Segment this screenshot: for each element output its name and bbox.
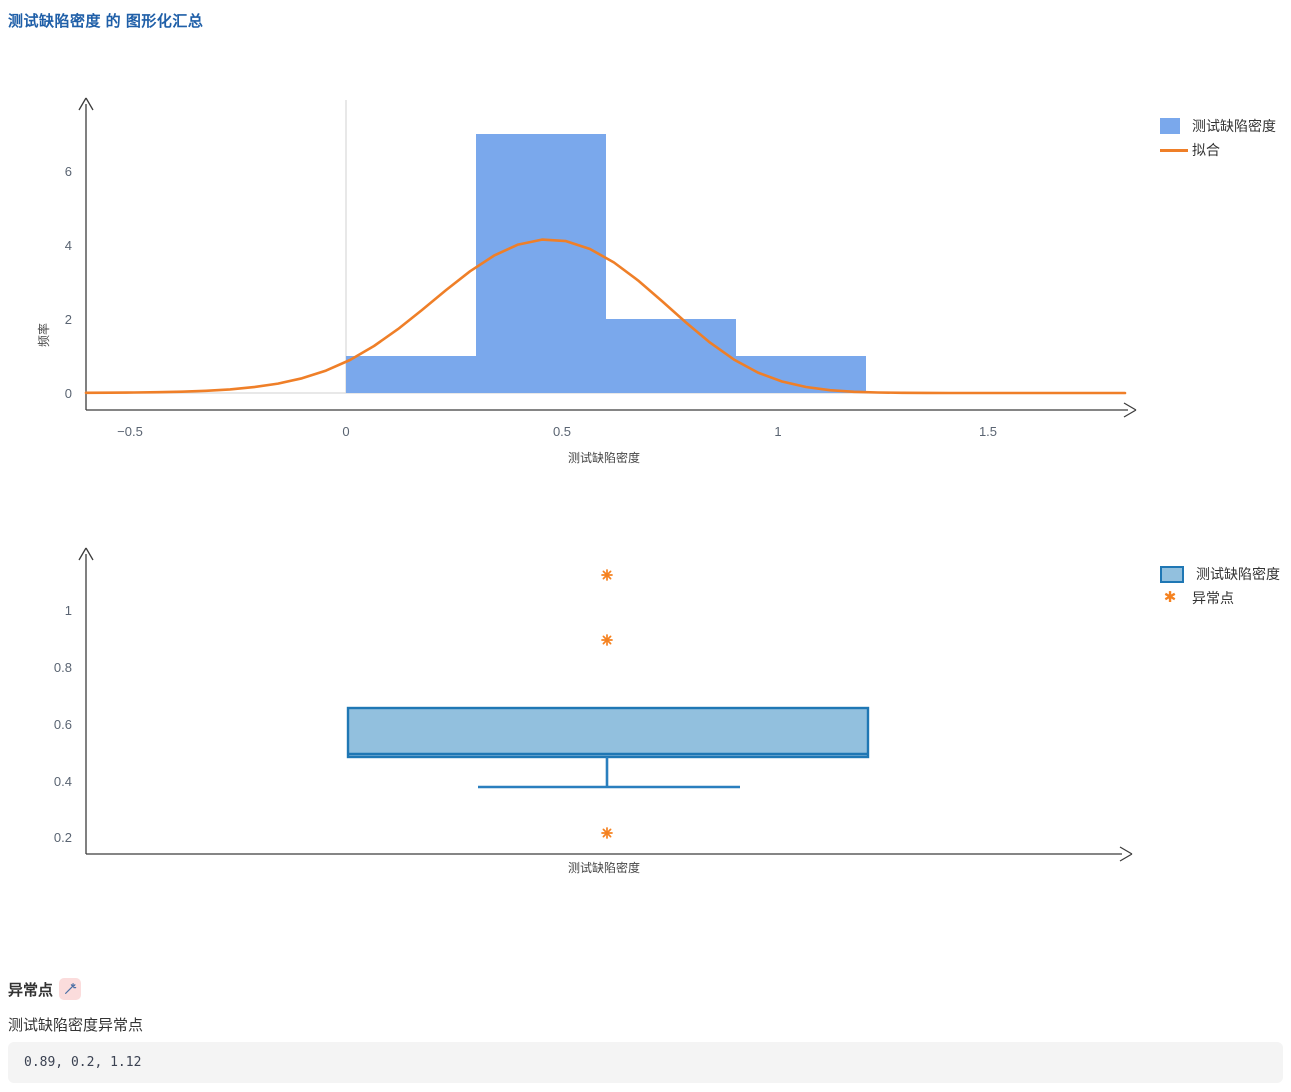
histogram-svg: 频率 0 2 4 6 −0.5 0 0.5 1 1.5 测试缺陷密度 [0, 80, 1160, 470]
legend-item-density: 测试缺陷密度 [1160, 114, 1276, 138]
histogram-bar-0 [346, 356, 476, 393]
histogram-xtick-0.5: 0.5 [553, 424, 571, 439]
boxplot-box-group [348, 708, 868, 787]
histogram-ytick-4: 4 [65, 238, 72, 253]
histogram-ytick-6: 6 [65, 164, 72, 179]
boxplot-ytick-0.8: 0.8 [54, 660, 72, 675]
histogram-xtick--0.5: −0.5 [117, 424, 143, 439]
boxplot-ytick-1: 1 [65, 603, 72, 618]
legend-label-density: 测试缺陷密度 [1192, 116, 1276, 136]
boxplot-chart: 1 0.8 0.6 0.4 0.2 [0, 530, 1160, 880]
histogram-x-axis-label: 测试缺陷密度 [568, 450, 640, 465]
histogram-bar-2 [606, 319, 736, 393]
outlier-point-1.12 [602, 570, 612, 580]
histogram-bar-3 [736, 356, 866, 393]
histogram-ytick-2: 2 [65, 312, 72, 327]
boxplot-ytick-0.6: 0.6 [54, 717, 72, 732]
legend-label-box-density: 测试缺陷密度 [1196, 564, 1280, 584]
legend-item-outlier: ✱ 异常点 [1160, 586, 1280, 610]
histogram-xtick-1: 1 [774, 424, 781, 439]
histogram-legend: 测试缺陷密度 拟合 [1160, 114, 1276, 162]
line-swatch-icon [1160, 142, 1180, 158]
boxplot-x-axis-label: 测试缺陷密度 [568, 860, 640, 875]
boxplot-legend: 测试缺陷密度 ✱ 异常点 [1160, 562, 1280, 610]
magic-wand-icon [59, 978, 81, 1000]
outliers-section: 异常点 测试缺陷密度异常点 [8, 978, 143, 1035]
outliers-subtitle: 测试缺陷密度异常点 [8, 1014, 143, 1035]
histogram-y-axis-label: 频率 [36, 323, 51, 347]
outlier-point-0.2 [602, 828, 612, 838]
histogram-xtick-0: 0 [342, 424, 349, 439]
outlier-point-0.89 [602, 635, 612, 645]
box-swatch-icon [1160, 566, 1184, 583]
legend-label-outlier: 异常点 [1192, 588, 1234, 608]
legend-item-box-density: 测试缺陷密度 [1160, 562, 1280, 586]
outliers-values: 0.89, 0.2, 1.12 [24, 1055, 141, 1070]
boxplot-box [348, 708, 868, 757]
histogram-ytick-0: 0 [65, 386, 72, 401]
histogram-chart: 频率 0 2 4 6 −0.5 0 0.5 1 1.5 测试缺陷密度 [0, 80, 1160, 470]
histogram-bars [346, 134, 866, 393]
boxplot-ytick-0.4: 0.4 [54, 774, 72, 789]
square-swatch-icon [1160, 118, 1180, 134]
legend-label-fit: 拟合 [1192, 140, 1220, 160]
outliers-heading-row: 异常点 [8, 978, 143, 1000]
boxplot-ytick-0.2: 0.2 [54, 830, 72, 845]
legend-item-fit: 拟合 [1160, 138, 1276, 162]
boxplot-outliers [602, 570, 612, 838]
outliers-heading-text: 异常点 [8, 979, 53, 1000]
histogram-bar-1 [476, 134, 606, 393]
outliers-code-block: 0.89, 0.2, 1.12 [8, 1042, 1283, 1083]
histogram-xtick-1.5: 1.5 [979, 424, 997, 439]
page-title: 测试缺陷密度 的 图形化汇总 [8, 10, 203, 31]
boxplot-svg: 1 0.8 0.6 0.4 0.2 [0, 530, 1160, 880]
asterisk-icon: ✱ [1160, 590, 1180, 606]
